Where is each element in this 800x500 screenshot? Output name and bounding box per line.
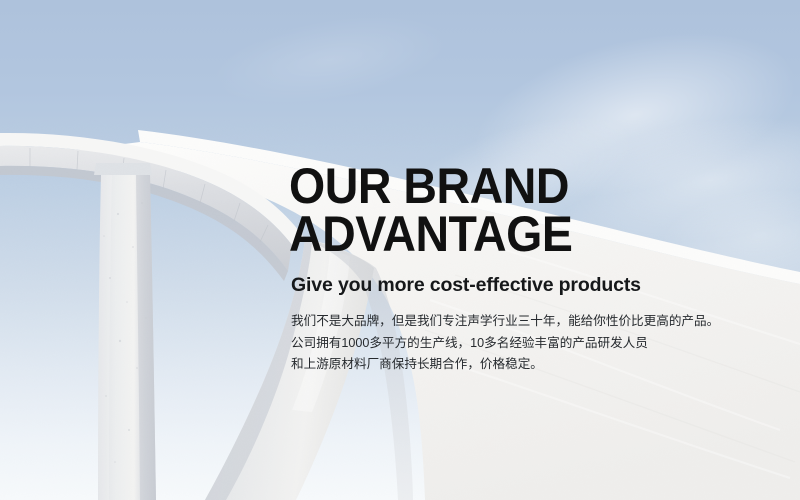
page-title: OUR BRAND ADVANTAGE	[289, 163, 726, 258]
brand-advantage-banner: OUR BRAND ADVANTAGE Give you more cost-e…	[0, 0, 800, 500]
subheadline: Give you more cost-effective products	[291, 274, 759, 297]
copy-block: OUR BRAND ADVANTAGE Give you more cost-e…	[289, 163, 759, 376]
body-line: 公司拥有1000多平方的生产线，10多名经验丰富的产品研发人员	[291, 333, 759, 355]
body-copy: 我们不是大品牌，但是我们专注声学行业三十年，能给你性价比更高的产品。 公司拥有1…	[291, 311, 759, 376]
body-line: 我们不是大品牌，但是我们专注声学行业三十年，能给你性价比更高的产品。	[291, 311, 759, 333]
body-line: 和上游原材料厂商保持长期合作，价格稳定。	[291, 354, 759, 376]
